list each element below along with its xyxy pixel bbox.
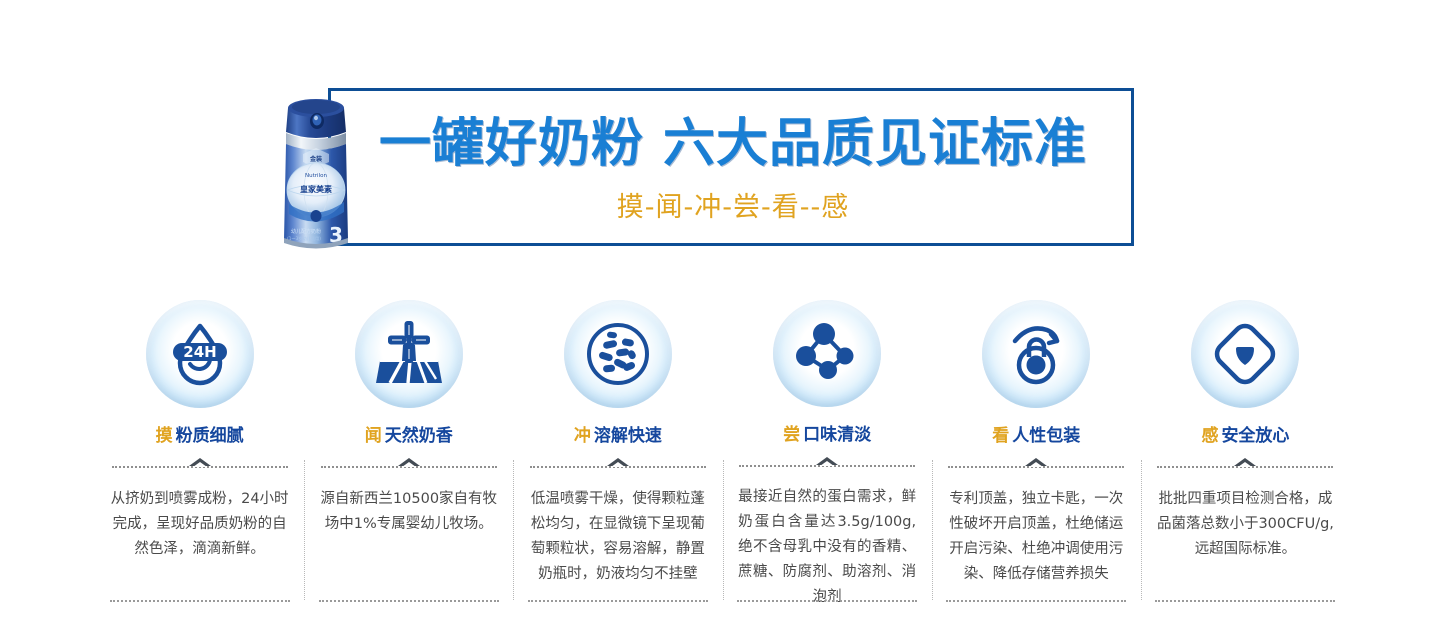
caret-inner-cut <box>820 461 834 466</box>
banner-subtitle: 摸-闻-冲-尝-看--感 <box>617 185 849 224</box>
feature-title: 感安全放心 <box>1201 428 1289 445</box>
feature-key-char: 看 <box>992 426 1009 446</box>
separator-with-caret <box>321 457 497 471</box>
footer-dotted-line <box>946 600 1126 602</box>
feature-item-mo: 24H 摸粉质细腻 从挤奶到喷雾成粉，24小时完成，呈现好品质奶粉的自然色泽，滴… <box>95 300 304 610</box>
svg-text:幼儿配方奶粉: 幼儿配方奶粉 <box>291 228 321 235</box>
feature-title: 冲溶解快速 <box>574 428 662 445</box>
promo-page: 金装 Nutrilon 皇家美素 幼儿配方奶粉 (1～3岁幼儿适用) 3 <box>0 0 1440 644</box>
feature-description: 低温喷雾干燥，使得颗粒蓬松均匀，在显微镜下呈现葡萄颗粒状，容易溶解，静置奶瓶时，… <box>529 487 707 610</box>
svg-text:金装: 金装 <box>309 155 322 163</box>
feature-description: 源自新西兰10500家自有牧场中1%专属婴幼儿牧场。 <box>320 487 498 610</box>
diamond-shield-icon <box>1191 300 1299 408</box>
feature-title-text: 安全放心 <box>1221 426 1289 446</box>
feature-key-char: 尝 <box>783 425 800 445</box>
feature-title-text: 天然奶香 <box>385 426 453 446</box>
feature-title-text: 溶解快速 <box>594 426 662 446</box>
feature-description: 批批四重项目检测合格，成品菌落总数小于300CFU/g,远超国际标准。 <box>1156 487 1334 610</box>
banner-text-block: 一罐好奶粉 六大品质见证标准 摸-闻-冲-尝-看--感 <box>330 88 1136 246</box>
separator-with-caret <box>948 457 1124 471</box>
open-padlock-icon <box>982 300 1090 408</box>
feature-description: 最接近自然的蛋白需求，鲜奶蛋白含量达3.5g/100g, 绝不含母乳中没有的香精… <box>738 485 916 610</box>
feature-description: 从挤奶到喷雾成粉，24小时完成，呈现好品质奶粉的自然色泽，滴滴新鲜。 <box>111 487 289 610</box>
feature-description: 专利顶盖，独立卡匙，一次性破坏开启顶盖，杜绝储运开启污染、杜绝冲调使用污染、降低… <box>947 487 1125 610</box>
feature-list: 24H 摸粉质细腻 从挤奶到喷雾成粉，24小时完成，呈现好品质奶粉的自然色泽，滴… <box>95 300 1350 620</box>
feature-title-text: 口味清淡 <box>803 425 871 445</box>
water-drop-24h-icon: 24H <box>146 300 254 408</box>
footer-dotted-line <box>1155 600 1335 602</box>
feature-title-text: 粉质细腻 <box>176 426 244 446</box>
caret-inner-cut <box>1238 462 1252 467</box>
feature-item-gan: 感安全放心 批批四重项目检测合格，成品菌落总数小于300CFU/g,远超国际标准… <box>1141 300 1350 610</box>
milk-powder-can-icon: 金装 Nutrilon 皇家美素 幼儿配方奶粉 (1～3岁幼儿适用) 3 <box>276 92 356 254</box>
feature-key-char: 闻 <box>365 426 382 446</box>
caret-inner-cut <box>402 462 416 467</box>
feature-key-char: 感 <box>1201 426 1218 446</box>
feature-item-chang: 尝口味清淡 最接近自然的蛋白需求，鲜奶蛋白含量达3.5g/100g, 绝不含母乳… <box>723 300 932 610</box>
separator-with-caret <box>112 457 288 471</box>
feature-item-wen: 闻天然奶香 源自新西兰10500家自有牧场中1%专属婴幼儿牧场。 <box>304 300 513 610</box>
svg-text:Nutrilon: Nutrilon <box>305 173 327 179</box>
banner: 金装 Nutrilon 皇家美素 幼儿配方奶粉 (1～3岁幼儿适用) 3 <box>0 0 1440 280</box>
caret-inner-cut <box>1029 462 1043 467</box>
footer-dotted-line <box>528 600 708 602</box>
caret-inner-cut <box>611 462 625 467</box>
windmill-farm-icon <box>355 300 463 408</box>
feature-title: 闻天然奶香 <box>365 428 453 445</box>
svg-text:皇家美素: 皇家美素 <box>300 184 332 194</box>
caret-inner-cut <box>193 462 207 467</box>
microscope-granules-icon <box>564 300 672 408</box>
footer-dotted-line <box>319 600 499 602</box>
water-drop-24h-label: 24H <box>183 343 216 361</box>
separator-with-caret <box>1157 457 1333 471</box>
separator-with-caret <box>530 457 706 471</box>
feature-title-text: 人性包装 <box>1012 426 1080 446</box>
feature-title: 摸粉质细腻 <box>156 428 244 445</box>
banner-title: 一罐好奶粉 六大品质见证标准 <box>379 116 1087 173</box>
separator-with-caret <box>739 456 915 470</box>
feature-key-char: 摸 <box>156 426 173 446</box>
feature-title: 尝口味清淡 <box>783 427 871 444</box>
footer-dotted-line <box>737 600 917 602</box>
feature-title: 看人性包装 <box>992 428 1080 445</box>
footer-dotted-line <box>110 600 290 602</box>
molecule-network-icon <box>773 300 881 407</box>
feature-item-chong: 冲溶解快速 低温喷雾干燥，使得颗粒蓬松均匀，在显微镜下呈现葡萄颗粒状，容易溶解，… <box>513 300 722 610</box>
feature-item-kan: 看人性包装 专利顶盖，独立卡匙，一次性破坏开启顶盖，杜绝储运开启污染、杜绝冲调使… <box>932 300 1141 610</box>
feature-key-char: 冲 <box>574 426 591 446</box>
